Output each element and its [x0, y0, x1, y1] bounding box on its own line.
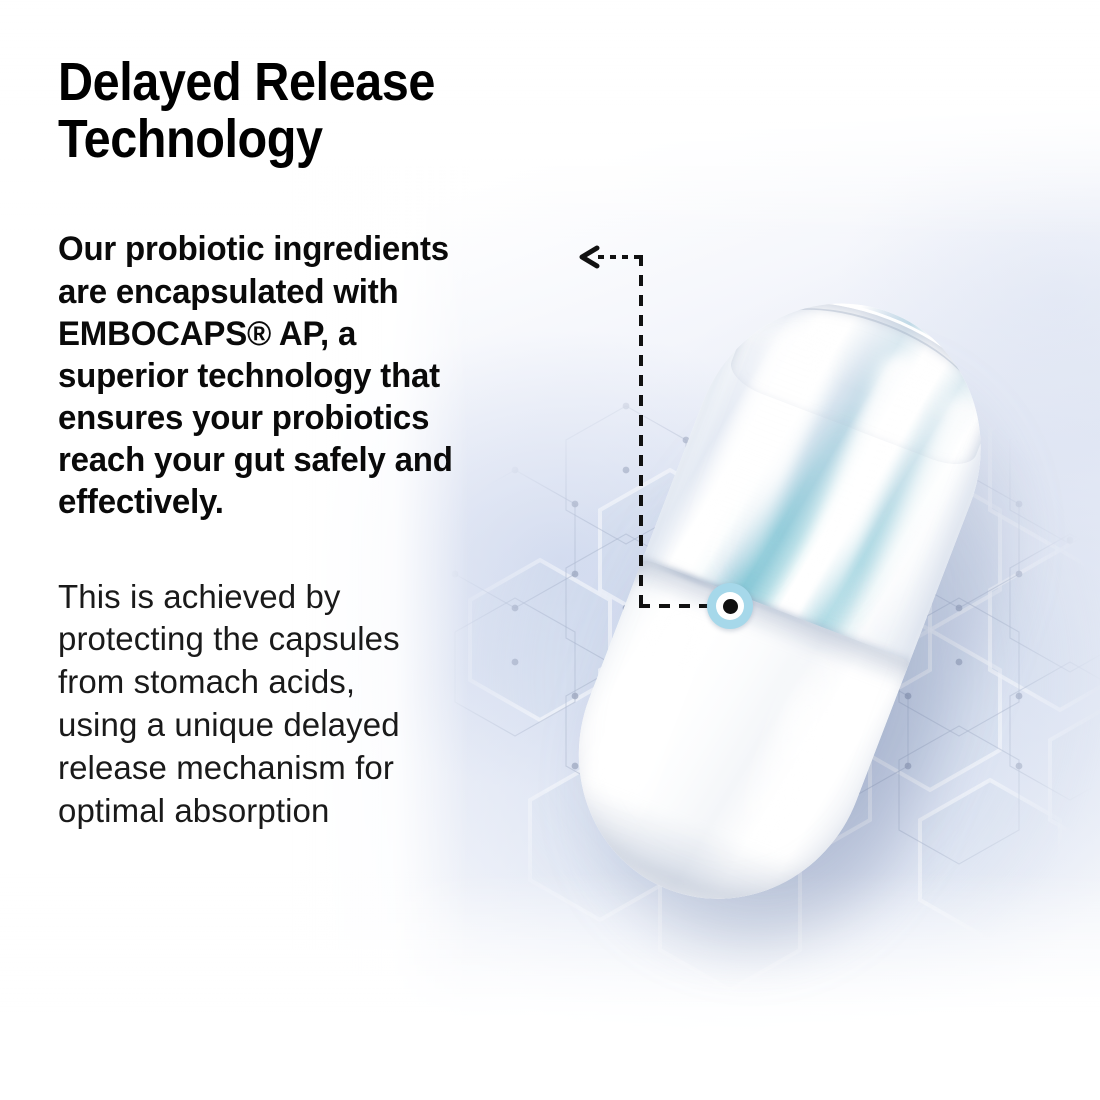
capsule-illustration [501, 242, 1070, 978]
promo-graphic-stage: Delayed Release Technology Our probiotic… [0, 0, 1100, 1100]
callout-target-dot [723, 599, 738, 614]
bottom-white-fade [0, 870, 1100, 1100]
text-column: Delayed Release Technology Our probiotic… [58, 54, 578, 833]
detail-paragraph: This is achieved by protecting the capsu… [58, 576, 558, 833]
page-title: Delayed Release Technology [58, 54, 526, 168]
highlight-paragraph: Our probiotic ingredients are encapsulat… [58, 228, 577, 523]
callout-arrow-icon [582, 248, 597, 266]
